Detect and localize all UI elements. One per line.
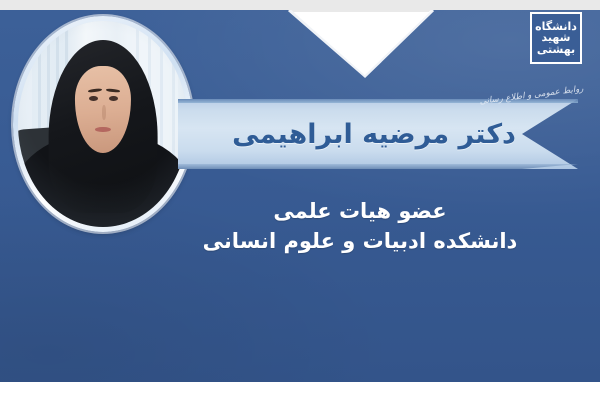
subtitle-faculty: دانشکده ادبیات و علوم انسانی	[150, 226, 570, 256]
person-name: دکتر مرضیه ابراهیمی	[190, 99, 558, 169]
university-logo-script: دانشگاه شهید بهشتی	[535, 17, 577, 59]
subtitle-block: عضو هیات علمی دانشکده ادبیات و علوم انسا…	[150, 196, 570, 257]
university-logo-mark-icon: دانشگاه شهید بهشتی	[530, 12, 582, 64]
logo-line-3: بهشتی	[537, 44, 575, 56]
subtitle-role: عضو هیات علمی	[150, 196, 570, 226]
profile-card-stage: دکتر مرضیه ابراهیمی عضو هیات علمی دانشکد…	[0, 0, 600, 400]
university-logo: دانشگاه شهید بهشتی روابط عمومی و اطلاع ر…	[478, 12, 586, 94]
